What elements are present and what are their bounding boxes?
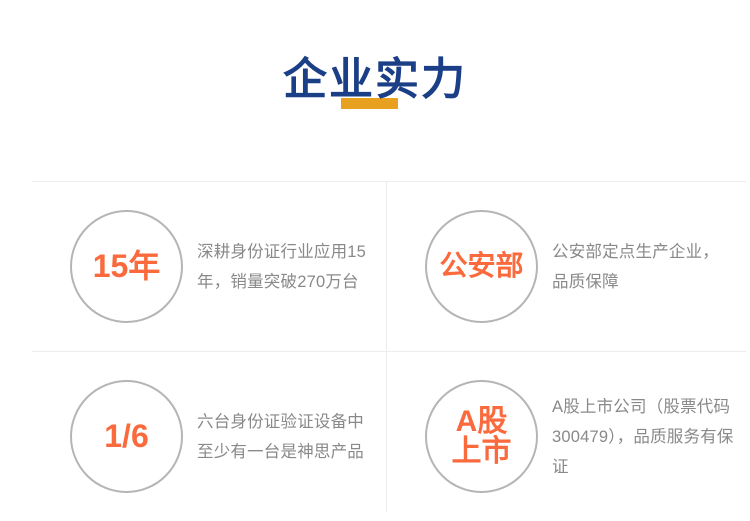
page-title-inner: 企业实力: [283, 58, 467, 102]
page-title-text: 企业实力: [283, 55, 467, 104]
badge-circle: 15年: [70, 210, 183, 323]
strength-item-15-years: 15年 深耕身份证行业应用15年，销量突破270万台: [32, 182, 386, 351]
badge-circle: A股 上市: [425, 380, 538, 493]
badge-label: A股 上市: [452, 407, 512, 467]
badge-label: 15年: [93, 249, 161, 284]
strength-description: 六台身份证验证设备中至少有一台是神思产品: [197, 407, 380, 467]
strength-description: 深耕身份证行业应用15年，销量突破270万台: [197, 237, 380, 297]
page-title: 企业实力: [0, 58, 750, 128]
enterprise-strength-page: { "header": { "title": "企业实力", "title_co…: [0, 0, 750, 516]
strength-item-a-share-listed: A股 上市 A股上市公司（股票代码300479），品质服务有保证: [387, 352, 741, 521]
strength-description: 公安部定点生产企业，品质保障: [552, 237, 735, 297]
strength-item-one-sixth: 1/6 六台身份证验证设备中至少有一台是神思产品: [32, 352, 386, 521]
badge-label: 1/6: [104, 419, 148, 454]
strength-item-ministry-public-security: 公安部 公安部定点生产企业，品质保障: [387, 182, 741, 351]
strength-grid: 15年 深耕身份证行业应用15年，销量突破270万台 公安部 公安部定点生产企业…: [32, 181, 746, 511]
badge-circle: 1/6: [70, 380, 183, 493]
strength-description: A股上市公司（股票代码300479），品质服务有保证: [552, 392, 735, 482]
badge-circle: 公安部: [425, 210, 538, 323]
badge-label: 公安部: [439, 251, 523, 281]
